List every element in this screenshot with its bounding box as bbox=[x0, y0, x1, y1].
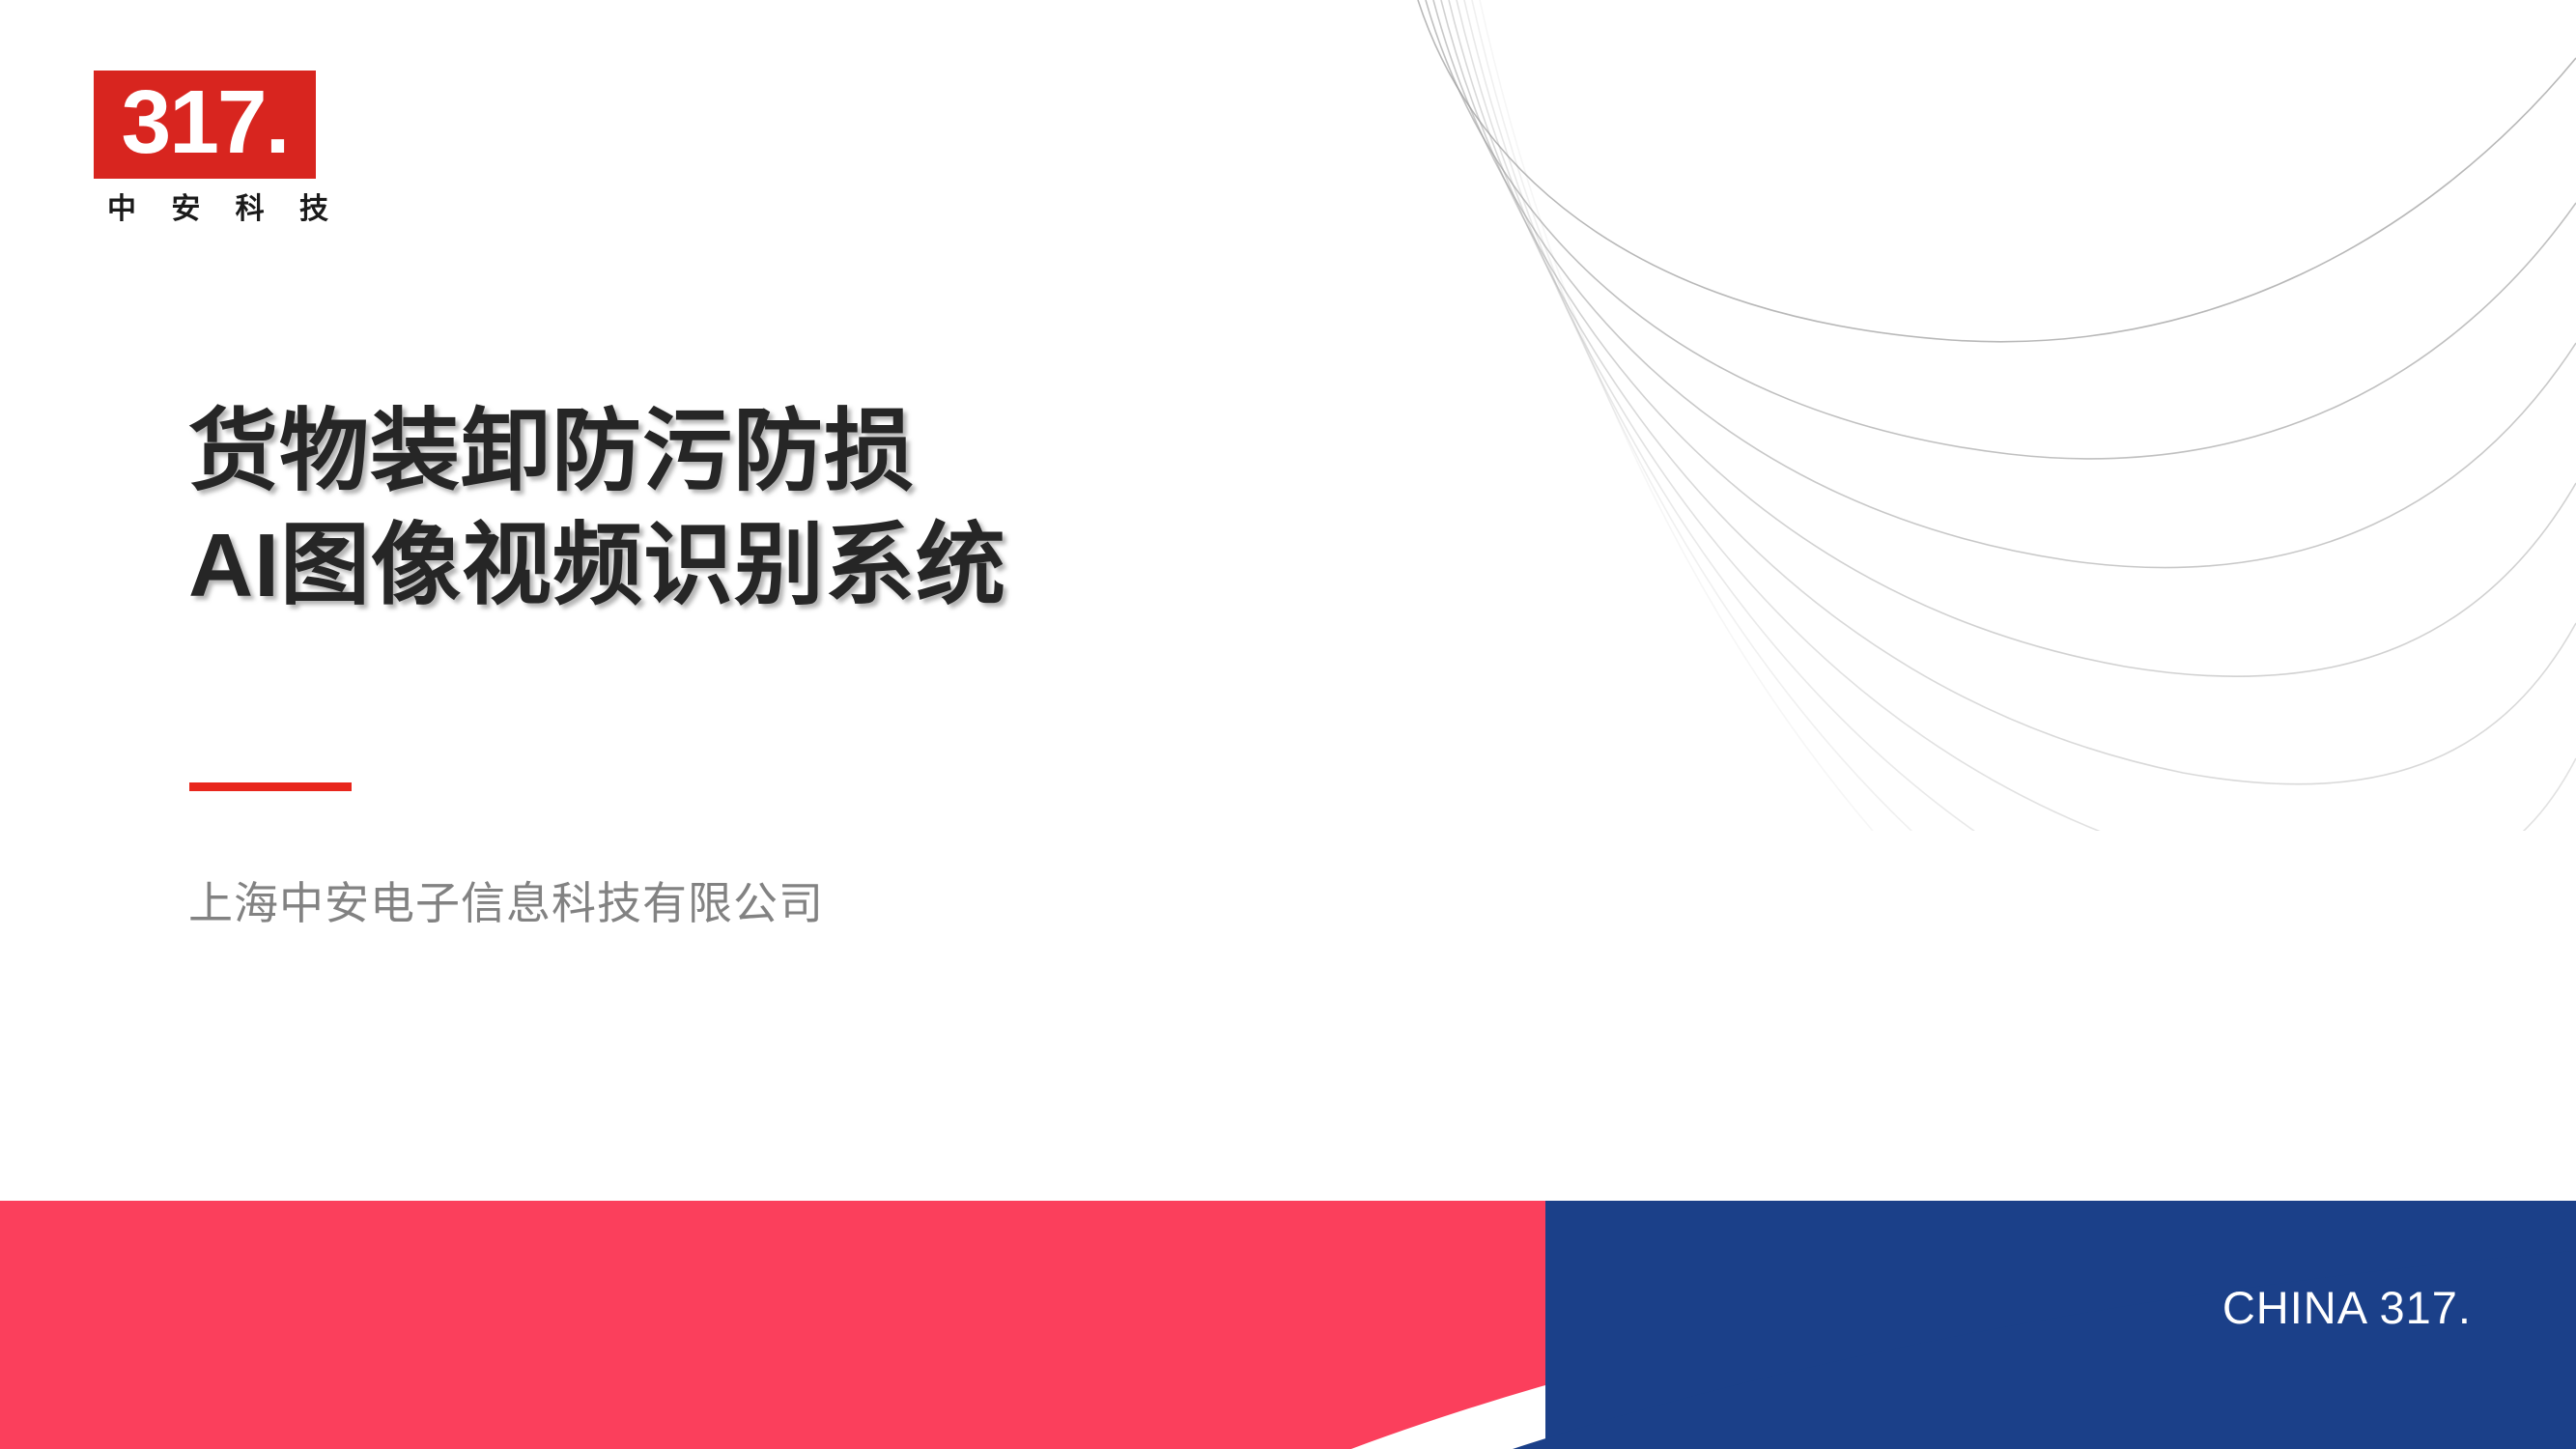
page-title: 货物装卸防污防损 AI图像视频识别系统 bbox=[188, 394, 1396, 622]
page-title-line-2: AI图像视频识别系统 bbox=[188, 508, 1396, 622]
logo-badge: 317. bbox=[94, 71, 316, 179]
title-divider-rule bbox=[189, 782, 352, 791]
company-logo: 317. 中 安 科 技 bbox=[94, 71, 316, 226]
footer-band: CHINA 317. bbox=[0, 1201, 2576, 1449]
page-title-line-1: 货物装卸防污防损 bbox=[188, 394, 1396, 508]
footer-brand-mark: CHINA 317. bbox=[2222, 1283, 2472, 1333]
decorative-ribbon-lines bbox=[1333, 0, 2576, 831]
subtitle-company-name: 上海中安电子信息科技有限公司 bbox=[188, 872, 824, 934]
title-slide: 317. 中 安 科 技 货物装卸防污防损 AI图像视频识别系统 上海中安电子信… bbox=[0, 0, 2576, 1449]
logo-badge-text: 317. bbox=[121, 77, 288, 167]
logo-company-short: 中 安 科 技 bbox=[94, 193, 316, 226]
